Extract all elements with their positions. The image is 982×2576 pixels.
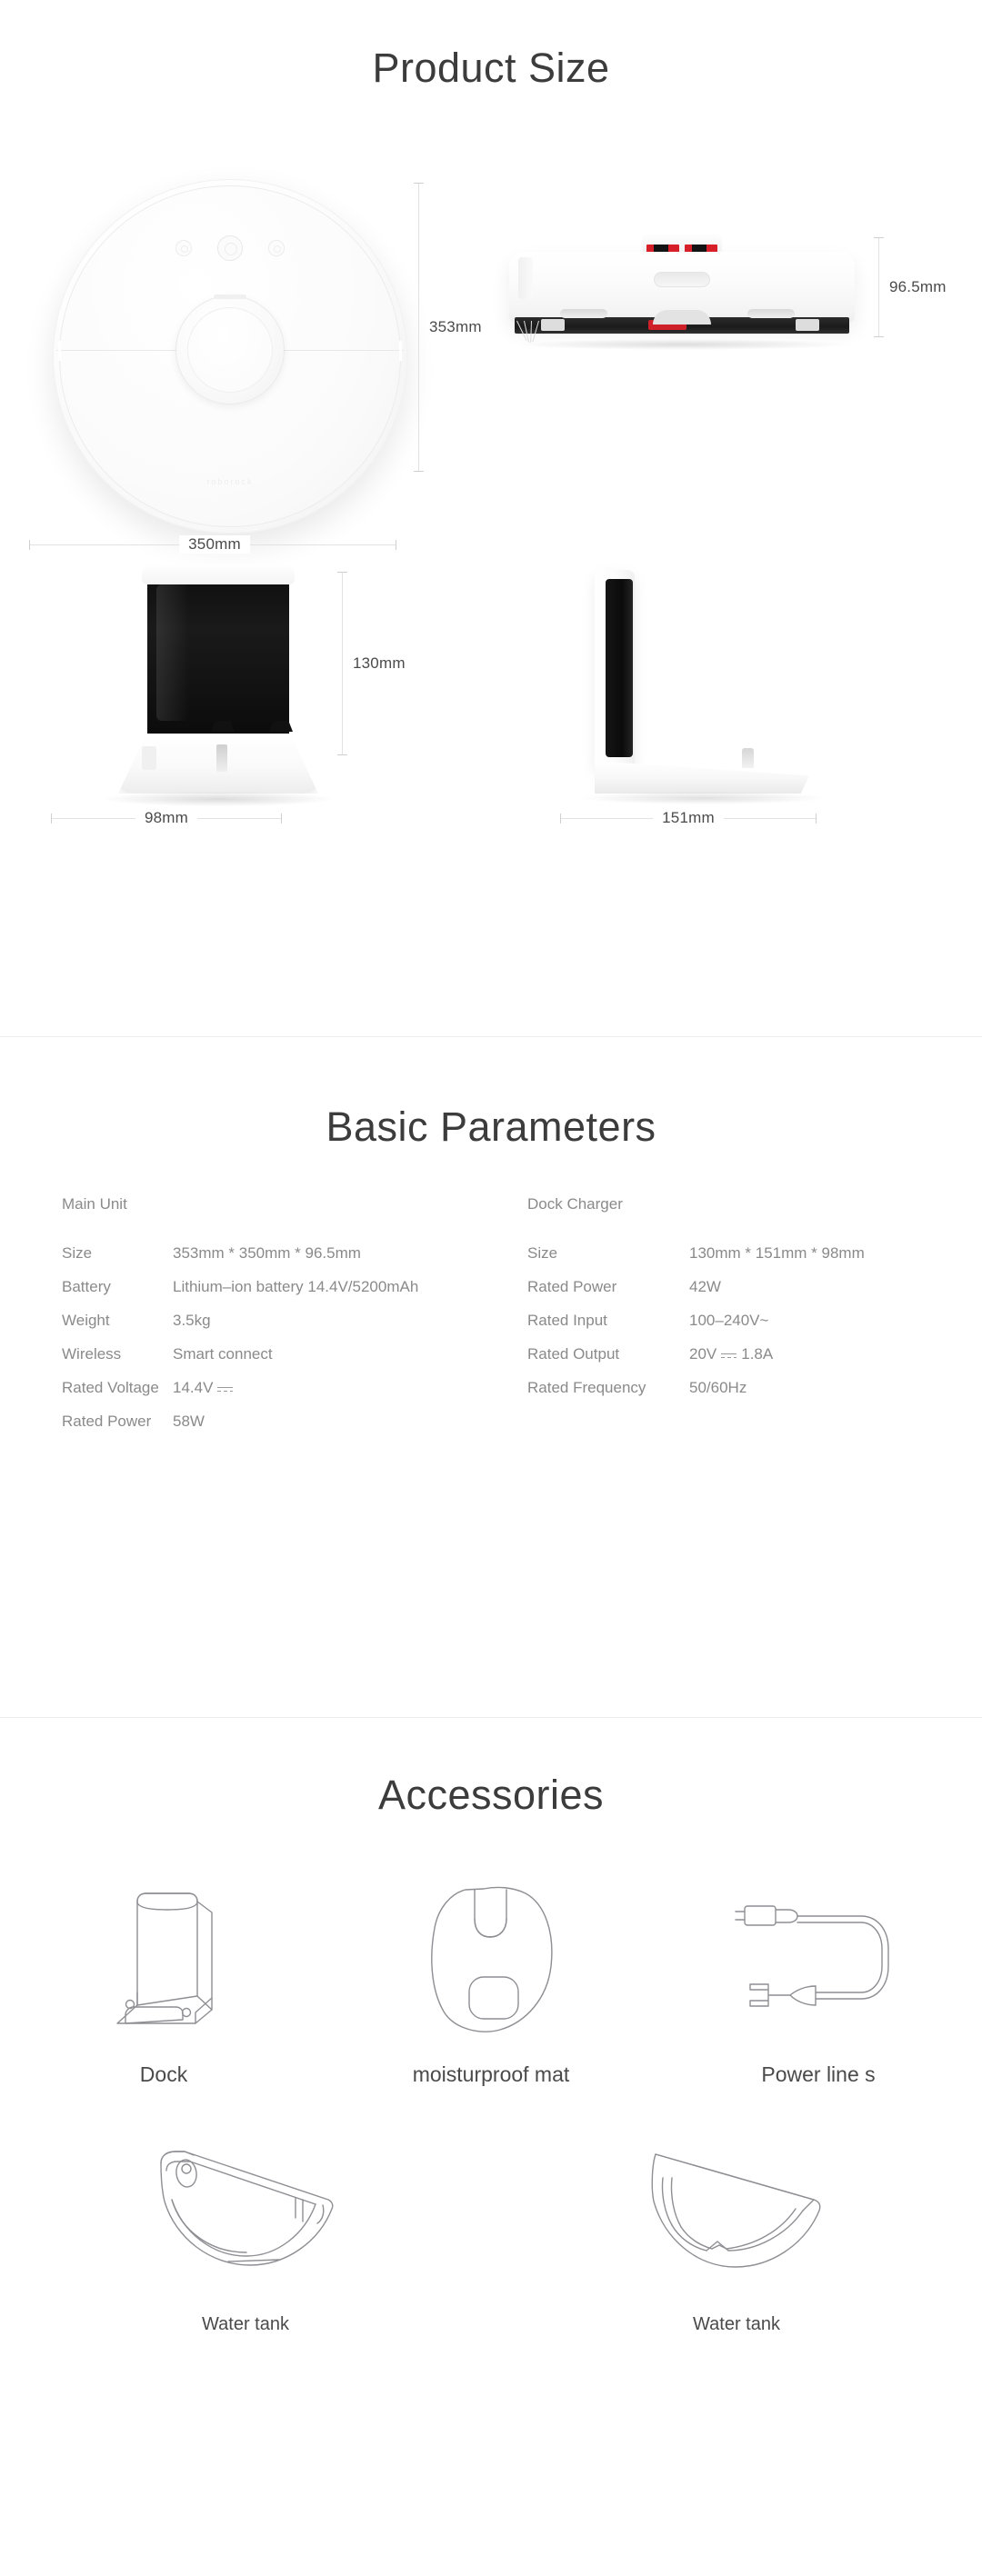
lidar-notch <box>214 295 246 299</box>
param-value-text: 20V <box>689 1345 716 1363</box>
basic-parameters-section: Basic Parameters Main Unit Size 353mm * … <box>0 1037 982 1717</box>
param-value: Lithium–ion battery 14.4V/5200mAh <box>173 1278 418 1296</box>
param-row: Rated Frequency 50/60Hz <box>527 1379 955 1413</box>
accessories-section: Accessories Dock <box>0 1718 982 2576</box>
dimension-robot-side-height-text: 96.5mm <box>889 278 947 295</box>
dustbin-handle-icon <box>654 272 710 287</box>
dimension-line-dock-height <box>342 572 343 755</box>
dimension-dock-depth-text: 151mm <box>662 809 715 826</box>
accessory-item: Power line s <box>655 1873 982 2088</box>
param-value: 42W <box>689 1278 721 1296</box>
accessories-row-2: Water tank Water tank <box>0 2119 982 2335</box>
dock-cable-slot <box>142 746 156 770</box>
caster-wheel-icon <box>653 310 711 324</box>
param-row: Wireless Smart connect <box>62 1345 489 1379</box>
dock-icon <box>95 1873 232 2046</box>
param-key: Weight <box>62 1312 173 1330</box>
robot-side-view: 96.5mm <box>509 215 855 361</box>
accessory-label: Power line s <box>761 2062 875 2088</box>
param-value: 100–240V~ <box>689 1312 768 1330</box>
accessories-row-1: Dock moisturproof mat <box>0 1873 982 2088</box>
dock-charging-pin <box>216 744 227 772</box>
param-value: 20V 1.8A <box>689 1345 773 1363</box>
water-tank-top-icon <box>150 2119 341 2301</box>
water-tank-bottom-icon <box>641 2119 832 2301</box>
bumper-gap-left <box>58 341 61 361</box>
dimension-dock-height-text: 130mm <box>353 654 406 672</box>
wheel-tab-right <box>747 309 795 318</box>
dimension-robot-width: 350mm <box>179 535 250 554</box>
dock-charger-heading: Dock Charger <box>527 1196 955 1212</box>
brand-wordmark: roborock <box>206 477 253 486</box>
dock-charger-column: Dock Charger Size 130mm * 151mm * 98mm R… <box>527 1196 955 1413</box>
param-row: Rated Power 58W <box>62 1413 489 1446</box>
underside-sensor-right <box>796 319 819 331</box>
accessory-item: moisturproof mat <box>327 1873 655 2088</box>
accessory-item: Water tank <box>0 2119 491 2335</box>
dock-front-view: 130mm 98mm <box>100 570 336 834</box>
param-row: Size 130mm * 151mm * 98mm <box>527 1244 955 1278</box>
spot-button-icon <box>268 240 285 256</box>
dimension-robot-width-text: 350mm <box>188 535 241 553</box>
param-value: 58W <box>173 1413 205 1431</box>
param-key: Rated Power <box>62 1413 173 1431</box>
param-key: Rated Power <box>527 1278 689 1296</box>
param-value: 353mm * 350mm * 96.5mm <box>173 1244 361 1263</box>
dimension-robot-side-height: 96.5mm <box>889 278 947 296</box>
main-unit-column: Main Unit Size 353mm * 350mm * 96.5mm Ba… <box>62 1196 489 1446</box>
dc-current-icon <box>721 1351 736 1361</box>
dimension-line-robot-side-height <box>878 237 879 337</box>
param-row: Rated Input 100–240V~ <box>527 1312 955 1345</box>
wheel-tab-left <box>560 309 607 318</box>
accessory-item: Water tank <box>491 2119 982 2335</box>
robot-button-row <box>175 235 285 261</box>
param-value: Smart connect <box>173 1345 273 1363</box>
accessory-label: moisturproof mat <box>413 2062 570 2088</box>
dock-contact-left <box>211 721 235 732</box>
power-button-icon <box>217 235 243 261</box>
param-value: 14.4V <box>173 1379 233 1397</box>
param-value: 130mm * 151mm * 98mm <box>689 1244 865 1263</box>
param-key: Wireless <box>62 1345 173 1363</box>
dc-current-icon <box>217 1384 233 1394</box>
dimension-dock-height: 130mm <box>353 654 406 673</box>
dimension-dock-width-text: 98mm <box>145 809 188 826</box>
power-cable-icon <box>732 1873 905 2046</box>
dimension-robot-height: 353mm <box>429 318 482 336</box>
param-value: 50/60Hz <box>689 1379 747 1397</box>
dock-front-shadow <box>104 792 333 806</box>
param-value: 3.5kg <box>173 1312 211 1330</box>
bumper-gap-right <box>399 341 402 361</box>
product-size-diagram: 𝕆 roborock 353mm 350mm <box>0 88 982 997</box>
param-row: Battery Lithium–ion battery 14.4V/5200mA… <box>62 1278 489 1312</box>
moistureproof-mat-icon <box>418 1873 564 2046</box>
param-row: Rated Voltage 14.4V <box>62 1379 489 1413</box>
product-size-section: Product Size 𝕆 roborock <box>0 0 982 1036</box>
parameters-grid: Main Unit Size 353mm * 350mm * 96.5mm Ba… <box>0 1196 982 1651</box>
param-key: Rated Output <box>527 1345 689 1363</box>
accessory-label: Water tank <box>202 2313 289 2335</box>
dock-charging-pin-side <box>742 748 754 768</box>
robot-side-shadow <box>518 339 846 350</box>
lidar-turret-icon: 𝕆 <box>175 295 285 404</box>
param-key: Rated Voltage <box>62 1379 173 1397</box>
dock-contact-right <box>269 721 293 732</box>
accessories-title: Accessories <box>0 1718 982 1815</box>
dimension-robot-height-text: 353mm <box>429 318 482 335</box>
dock-side-view: 151mm <box>564 570 837 834</box>
dock-side-shadow <box>582 792 824 804</box>
dock-button-icon <box>175 240 192 256</box>
param-key: Size <box>527 1244 689 1263</box>
dock-panel-side-icon <box>606 579 633 757</box>
param-key: Battery <box>62 1278 173 1296</box>
param-row: Size 353mm * 350mm * 96.5mm <box>62 1244 489 1278</box>
basic-parameters-title: Basic Parameters <box>0 1037 982 1147</box>
product-size-title: Product Size <box>0 0 982 88</box>
brand-logo-icon: 𝕆 <box>223 339 237 362</box>
param-key: Rated Input <box>527 1312 689 1330</box>
dimension-dock-width: 98mm <box>135 809 197 827</box>
dock-base-side-icon <box>595 761 809 794</box>
param-key: Rated Frequency <box>527 1379 689 1397</box>
param-value-text-after: 1.8A <box>741 1345 773 1363</box>
param-key: Size <box>62 1244 173 1263</box>
dimension-line-robot-height <box>418 183 419 472</box>
accessory-label: Water tank <box>693 2313 780 2335</box>
param-row: Weight 3.5kg <box>62 1312 489 1345</box>
dock-panel-icon <box>147 570 289 739</box>
param-row: Rated Output 20V 1.8A <box>527 1345 955 1379</box>
robot-body-top-icon: 𝕆 roborock <box>53 179 407 534</box>
robot-top-view: 𝕆 roborock 353mm 350mm <box>36 170 418 552</box>
param-value-text: 14.4V <box>173 1379 213 1397</box>
dimension-dock-depth: 151mm <box>653 809 724 827</box>
param-row: Rated Power 42W <box>527 1278 955 1312</box>
accessory-item: Dock <box>0 1873 327 2088</box>
accessory-label: Dock <box>140 2062 187 2088</box>
main-unit-heading: Main Unit <box>62 1196 489 1212</box>
